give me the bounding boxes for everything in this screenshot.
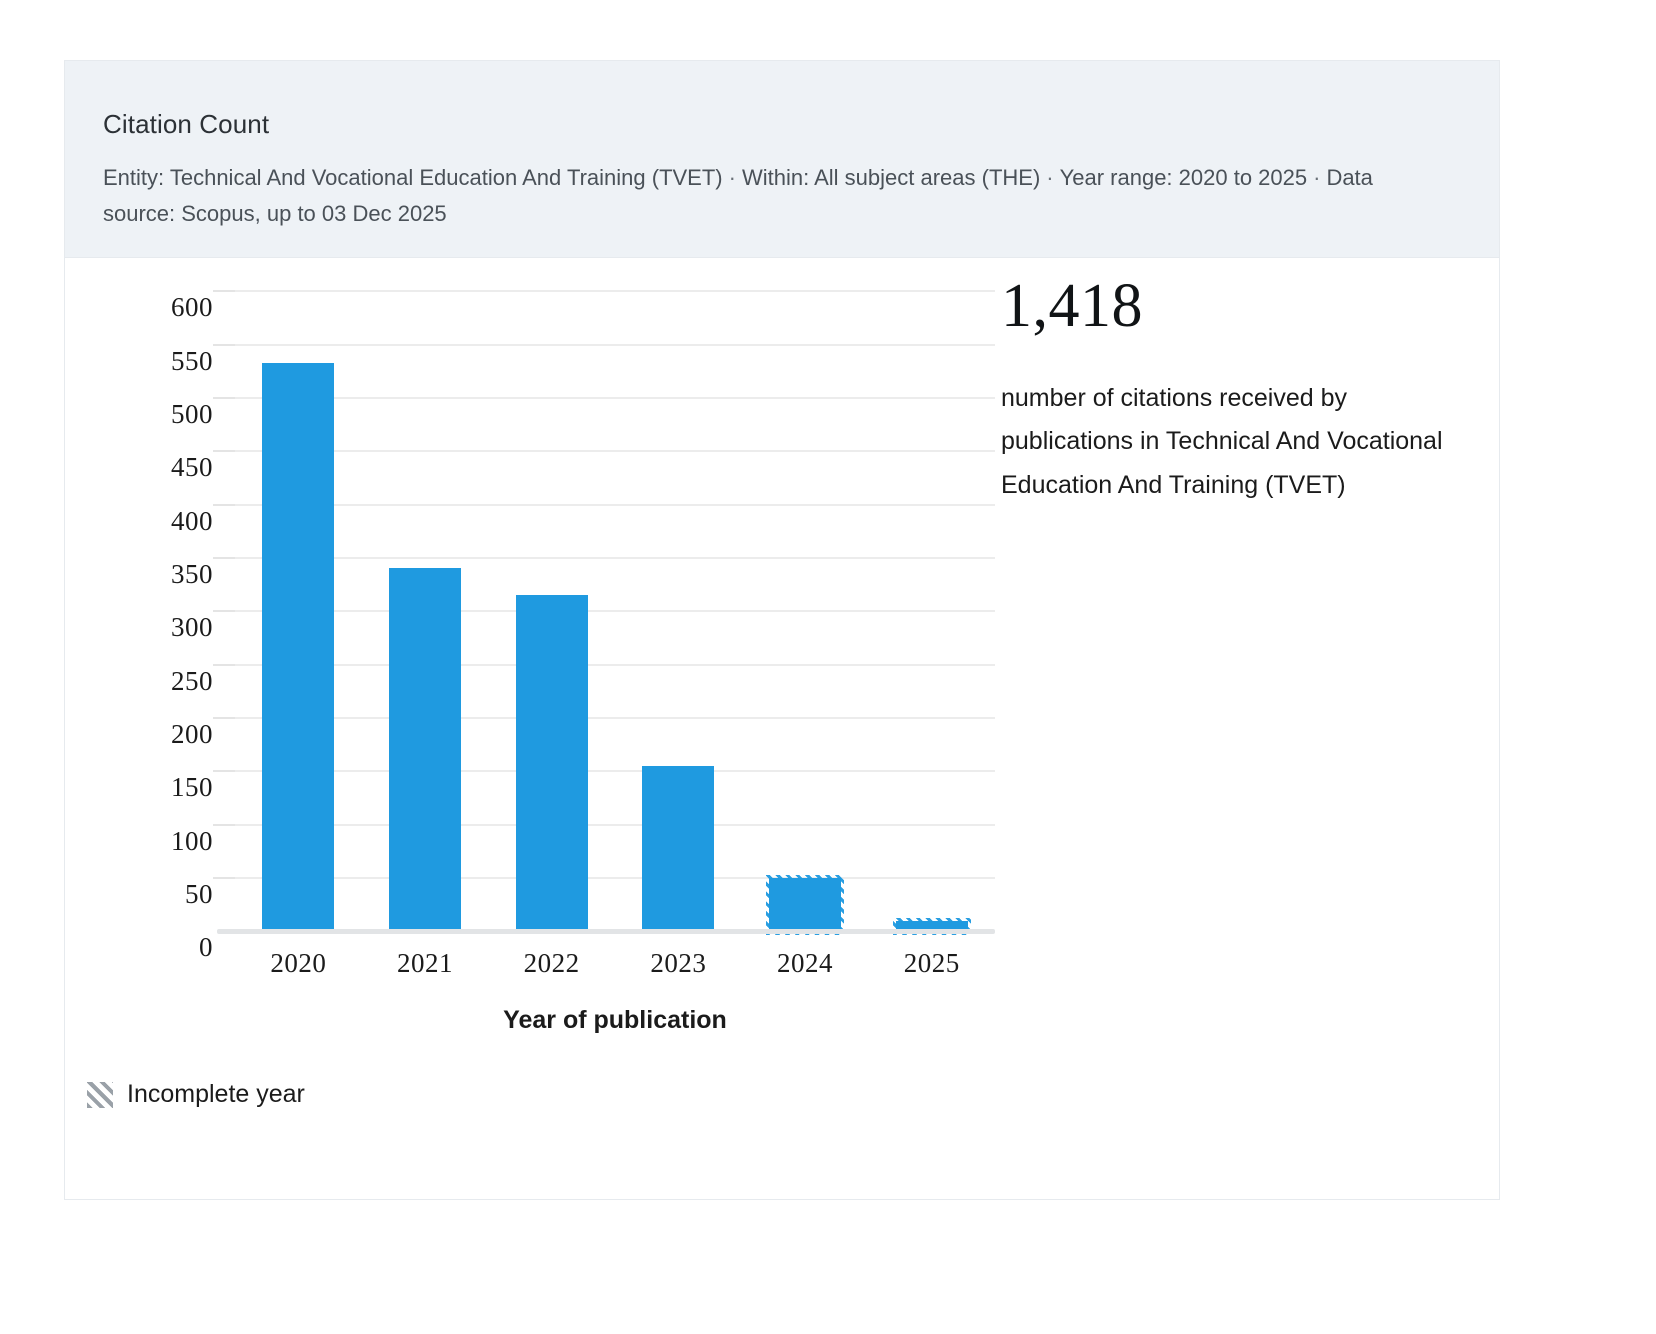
bar-slot: [615, 292, 742, 932]
bar-slot: [235, 292, 362, 932]
legend-incomplete-year-label: Incomplete year: [127, 1080, 305, 1109]
subtitle-within: Within: All subject areas (THE): [742, 165, 1040, 190]
bar-2021[interactable]: [389, 568, 461, 933]
bar-slot: [742, 292, 869, 932]
kpi-value: 1,418: [1001, 272, 1471, 340]
chart-legend: Incomplete year: [87, 1080, 305, 1109]
x-axis-tick-label-2023: 2023: [615, 948, 742, 979]
bar-chart: 050100150200250300350400450500550600 202…: [65, 258, 1025, 1078]
page-root: Citation Count Entity: Technical And Voc…: [0, 0, 1656, 1334]
y-tick-mark: [213, 717, 235, 719]
bar-2020[interactable]: [262, 363, 334, 933]
card-header: Citation Count Entity: Technical And Voc…: [65, 61, 1499, 258]
y-tick-mark: [213, 770, 235, 772]
subtitle-separator-2: ·: [1040, 160, 1059, 196]
y-tick-mark: [213, 824, 235, 826]
y-tick-mark: [213, 557, 235, 559]
subtitle-separator-1: ·: [723, 160, 742, 196]
kpi-panel: 1,418 number of citations received by pu…: [1001, 272, 1471, 507]
bar-2024[interactable]: [769, 878, 841, 932]
y-tick-mark: [213, 664, 235, 666]
subtitle-entity: Entity: Technical And Vocational Educati…: [103, 165, 723, 190]
bar-2023[interactable]: [642, 766, 714, 932]
subtitle-year-range: Year range: 2020 to 2025: [1060, 165, 1308, 190]
bar-series: [235, 292, 995, 932]
x-axis-tick-label-2025: 2025: [868, 948, 995, 979]
x-axis-labels: 202020212022202320242025: [235, 948, 995, 979]
hatched-square-icon: [87, 1082, 113, 1108]
y-tick-mark: [213, 450, 235, 452]
bar-slot: [488, 292, 615, 932]
card-subtitle: Entity: Technical And Vocational Educati…: [103, 160, 1433, 231]
bar-slot: [362, 292, 489, 932]
y-tick-mark: [213, 504, 235, 506]
y-tick-mark: [213, 290, 235, 292]
x-axis-tick-label-2020: 2020: [235, 948, 362, 979]
card-body: 050100150200250300350400450500550600 202…: [65, 258, 1499, 1118]
citation-count-card: Citation Count Entity: Technical And Voc…: [64, 60, 1500, 1200]
y-axis-labels: 050100150200250300350400450500550600: [125, 292, 213, 932]
bar-2022[interactable]: [516, 595, 588, 932]
x-axis-tick-label-2024: 2024: [742, 948, 869, 979]
x-axis-line: [217, 929, 995, 934]
bar-slot: [868, 292, 995, 932]
kpi-description: number of citations received by publicat…: [1001, 377, 1471, 508]
x-axis-tick-label-2022: 2022: [488, 948, 615, 979]
page-title: Citation Count: [103, 109, 1461, 140]
x-axis-title: Year of publication: [235, 1006, 995, 1035]
plot-area: [235, 292, 995, 932]
x-axis-tick-label-2021: 2021: [362, 948, 489, 979]
y-tick-mark: [213, 610, 235, 612]
y-tick-mark: [213, 344, 235, 346]
y-tick-mark: [213, 877, 235, 879]
y-tick-mark: [213, 397, 235, 399]
subtitle-separator-3: ·: [1307, 160, 1326, 196]
